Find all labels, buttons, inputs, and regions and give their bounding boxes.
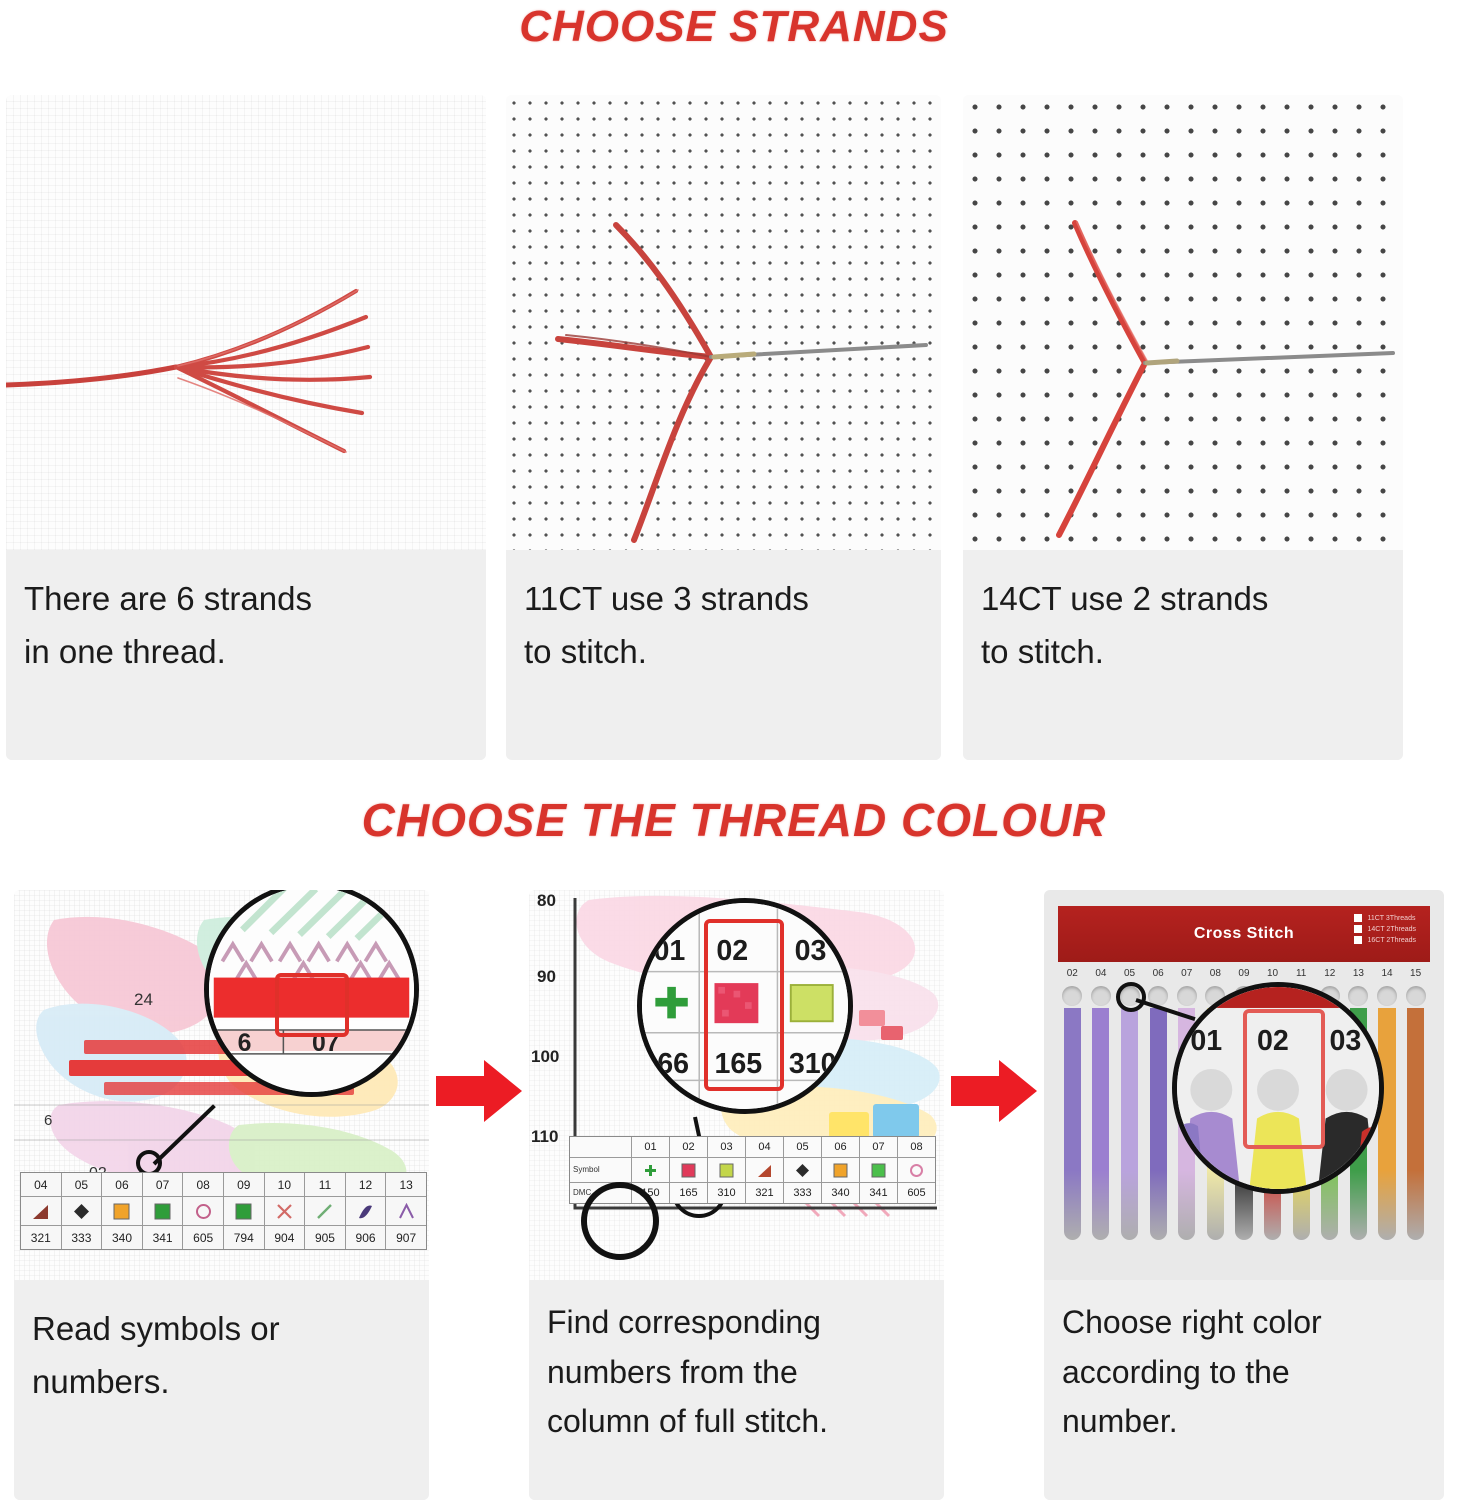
- legend-code-cell: 340: [102, 1226, 143, 1249]
- svg-text:100: 100: [531, 1047, 559, 1066]
- thread-hole: [1377, 986, 1397, 1006]
- thread-skein[interactable]: [1115, 1008, 1144, 1240]
- legend-symbol-slash: [316, 1203, 333, 1220]
- legend-number-cell: 04: [746, 1137, 784, 1157]
- thread-number-label: 14: [1373, 968, 1402, 986]
- caption-read-symbols: Read symbols or numbers.: [14, 1280, 429, 1500]
- pattern-chart-background: 24 6 02: [14, 890, 429, 1280]
- legend-symbol-cell: [746, 1158, 784, 1182]
- thread-number-label: 15: [1401, 968, 1430, 986]
- six-strand-thread-art: [6, 95, 486, 550]
- legend-symbol-cell: [102, 1197, 143, 1225]
- arrow-1-wrap: [429, 890, 529, 1500]
- legend-symbol-filled-square: [719, 1163, 734, 1178]
- legend-symbol-cell: [822, 1158, 860, 1182]
- thread-strand: [1378, 1008, 1395, 1240]
- caption-line: according to the: [1062, 1348, 1426, 1398]
- legend-code-cell: 310: [708, 1183, 746, 1203]
- thread-organizer-card: Cross Stitch 11CT 3Threads14CT 2Threads1…: [1044, 890, 1444, 1280]
- legend-symbol-filled-square: [113, 1203, 130, 1220]
- legend-symbol-filled-square: [681, 1163, 696, 1178]
- legend-symbol-cell: [386, 1197, 426, 1225]
- legend-number-cell: 03: [708, 1137, 746, 1157]
- legend-code-cell: 333: [784, 1183, 822, 1203]
- caption-11ct: 11CT use 3 strands to stitch.: [506, 550, 941, 760]
- svg-text:01: 01: [653, 935, 685, 967]
- card-read-symbols: 24 6 02: [14, 890, 429, 1500]
- legend-symbol-diamond: [73, 1203, 90, 1220]
- legend-number-row: 0102030405060708: [570, 1137, 935, 1157]
- legend-symbol-diamond: [795, 1163, 810, 1178]
- legend-number-cell: 04: [21, 1173, 62, 1196]
- legend-symbol-cell: [708, 1158, 746, 1182]
- svg-text:110: 110: [531, 1127, 558, 1146]
- legend-code-cell: 321: [746, 1183, 784, 1203]
- section-title-choose-thread-colour: CHOOSE THE THREAD COLOUR: [0, 793, 1468, 847]
- caption-line: 11CT use 3 strands: [524, 572, 923, 625]
- legend-number-cell: 06: [822, 1137, 860, 1157]
- card-14ct: 14CT use 2 strands to stitch.: [963, 95, 1403, 760]
- legend-number-cell: 08: [183, 1173, 224, 1196]
- legend-number-cell: 13: [386, 1173, 426, 1196]
- thread-number-label: 02: [1058, 968, 1087, 986]
- legend-code-cell: 906: [346, 1226, 387, 1249]
- thread-number-label: 12: [1315, 968, 1344, 986]
- thread-card-checkbox[interactable]: 16CT 2Threads: [1354, 936, 1416, 944]
- thread-skein[interactable]: [1058, 1008, 1087, 1240]
- checkbox-label: 14CT 2Threads: [1367, 926, 1416, 933]
- caption-choose-color: Choose right color according to the numb…: [1044, 1280, 1444, 1500]
- magnifier-circle-threads: 01 02 03: [1172, 982, 1384, 1194]
- caption-line: numbers.: [32, 1355, 411, 1408]
- highlight-box-02-chart: [704, 919, 784, 1091]
- arrow-right-icon: [436, 1060, 522, 1122]
- legend-symbol-cell: [784, 1158, 822, 1182]
- legend-code-cell: 605: [183, 1226, 224, 1249]
- highlight-box-02-thread: [1243, 1009, 1325, 1149]
- thread-strand: [1407, 1008, 1424, 1240]
- legend-number-cell: 12: [346, 1173, 387, 1196]
- legend-symbol-row: Symbol: [570, 1157, 935, 1183]
- photo-pattern-chart: 24 6 02: [14, 890, 429, 1280]
- caption-14ct: 14CT use 2 strands to stitch.: [963, 550, 1403, 760]
- legend-code-cell: 904: [265, 1226, 306, 1249]
- legend-symbol-cell: [670, 1158, 708, 1182]
- legend-code-cell: 905: [305, 1226, 346, 1249]
- legend-code-row: 321333340341605794904905906907: [21, 1226, 426, 1249]
- caption-line: number.: [1062, 1397, 1426, 1447]
- legend-symbol-cell: [305, 1197, 346, 1225]
- infographic-page: CHOOSE STRANDS: [0, 0, 1468, 1500]
- legend-number-cell: 01: [632, 1137, 670, 1157]
- legend-number-row: 04050607080910111213: [21, 1173, 426, 1196]
- caption-line: There are 6 strands: [24, 572, 468, 625]
- legend-symbol-filled-square: [235, 1203, 252, 1220]
- legend-symbol-cell: [143, 1197, 184, 1225]
- thread-number-label: 06: [1144, 968, 1173, 986]
- checkbox-icon[interactable]: [1354, 925, 1362, 933]
- legend-code-cell: 341: [143, 1226, 184, 1249]
- photo-thread-card: Cross Stitch 11CT 3Threads14CT 2Threads1…: [1044, 890, 1444, 1280]
- legend-symbol-triangle: [757, 1163, 772, 1178]
- caption-line: numbers from the: [547, 1348, 926, 1398]
- legend-symbol-cell: [898, 1158, 935, 1182]
- legend-code-cell: 907: [386, 1226, 426, 1249]
- legend-code-cell: 340: [822, 1183, 860, 1203]
- legend-symbol-filled-square: [871, 1163, 886, 1178]
- thread-strand: [1150, 1008, 1167, 1240]
- legend-number-cell: 07: [143, 1173, 184, 1196]
- checkbox-label: 11CT 3Threads: [1367, 915, 1415, 922]
- caption-line: 14CT use 2 strands: [981, 572, 1385, 625]
- svg-text:66: 66: [657, 1048, 689, 1080]
- legend-symbol-caret: [398, 1203, 415, 1220]
- strands-card-row: There are 6 strands in one thread.: [0, 95, 1468, 760]
- legend-number-cell: 08: [898, 1137, 935, 1157]
- thread-hole: [1348, 986, 1368, 1006]
- thread-number-label: 07: [1172, 968, 1201, 986]
- legend-symbol-cell: [860, 1158, 898, 1182]
- thread-strand: [1121, 1008, 1138, 1240]
- caption-find-numbers: Find corresponding numbers from the colu…: [529, 1280, 944, 1500]
- legend-symbol-cell: [632, 1158, 670, 1182]
- legend-number-cell: 02: [670, 1137, 708, 1157]
- thread-number-label: 09: [1230, 968, 1259, 986]
- three-strand-needle-art: [506, 95, 941, 550]
- magnifier-circle-symbols: 6 07: [204, 890, 419, 1097]
- thread-colour-card-row: 24 6 02: [0, 890, 1468, 1500]
- thread-hole: [1062, 986, 1082, 1006]
- legend-symbol-filled-square: [154, 1203, 171, 1220]
- highlight-box-02: [275, 973, 349, 1037]
- legend-symbol-filled-square: [833, 1163, 848, 1178]
- svg-text:24: 24: [134, 990, 153, 1009]
- legend-row-label-symbol: Symbol: [570, 1158, 632, 1182]
- svg-text:03: 03: [795, 935, 827, 967]
- checkbox-icon[interactable]: [1354, 936, 1362, 944]
- caption-line: to stitch.: [524, 625, 923, 678]
- legend-symbol-leaf: [357, 1203, 374, 1220]
- legend-number-cell: 06: [102, 1173, 143, 1196]
- thread-card-checkbox-list: 11CT 3Threads14CT 2Threads16CT 2Threads: [1354, 914, 1416, 944]
- card-six-strands: There are 6 strands in one thread.: [6, 95, 486, 760]
- thread-strand: [1092, 1008, 1109, 1240]
- svg-text:6: 6: [44, 1112, 52, 1129]
- card-choose-color: Cross Stitch 11CT 3Threads14CT 2Threads1…: [1044, 890, 1444, 1500]
- legend-symbol-cell: [346, 1197, 387, 1225]
- thread-skein[interactable]: [1401, 1008, 1430, 1240]
- magnifier-circle-numbers: 01 02 03 66 165 310: [637, 898, 853, 1114]
- caption-line: column of full stitch.: [547, 1397, 926, 1447]
- thread-card-number-row: 02040506070809101112131415: [1058, 968, 1430, 986]
- arrow-right-icon: [951, 1060, 1037, 1122]
- legend-symbol-circle-outline: [195, 1203, 212, 1220]
- legend-row-label: [570, 1137, 632, 1157]
- legend-symbol-cell: [62, 1197, 103, 1225]
- legend-code-cell: 794: [224, 1226, 265, 1249]
- thread-skein[interactable]: [1144, 1008, 1173, 1240]
- legend-number-cell: 11: [305, 1173, 346, 1196]
- svg-text:03: 03: [1329, 1025, 1361, 1057]
- legend-number-cell: 10: [265, 1173, 306, 1196]
- thread-hole: [1406, 986, 1426, 1006]
- card-11ct: 11CT use 3 strands to stitch.: [506, 95, 941, 760]
- thread-hole: [1177, 986, 1197, 1006]
- magnifier-pointer-dot: [1116, 982, 1146, 1012]
- caption-line: to stitch.: [981, 625, 1385, 678]
- thread-card-title: Cross Stitch: [1194, 925, 1294, 943]
- legend-strip-symbols: 04050607080910111213 3213333403416057949…: [20, 1172, 427, 1250]
- section-title-choose-strands: CHOOSE STRANDS: [0, 2, 1468, 52]
- svg-text:01: 01: [1190, 1025, 1222, 1057]
- thread-number-label: 04: [1087, 968, 1116, 986]
- thread-number-label: 08: [1201, 968, 1230, 986]
- thread-card-header: Cross Stitch 11CT 3Threads14CT 2Threads1…: [1058, 906, 1430, 962]
- card-find-numbers: 80 90 100 110: [529, 890, 944, 1500]
- svg-text:6: 6: [238, 1030, 252, 1057]
- caption-line: Choose right color: [1062, 1298, 1426, 1348]
- legend-number-cell: 05: [784, 1137, 822, 1157]
- thread-card-checkbox[interactable]: 11CT 3Threads: [1354, 914, 1416, 922]
- legend-number-cell: 07: [860, 1137, 898, 1157]
- full-stitch-chart-background: 80 90 100 110: [529, 890, 944, 1280]
- legend-code-cell: 341: [860, 1183, 898, 1203]
- legend-code-cell: 321: [21, 1226, 62, 1249]
- legend-symbol-plus: [643, 1163, 658, 1178]
- thread-card-checkbox[interactable]: 14CT 2Threads: [1354, 925, 1416, 933]
- legend-symbol-cell: [183, 1197, 224, 1225]
- legend-symbol-cell: [21, 1197, 62, 1225]
- caption-line: Find corresponding: [547, 1298, 926, 1348]
- legend-code-cell: 165: [670, 1183, 708, 1203]
- caption-six-strands: There are 6 strands in one thread.: [6, 550, 486, 760]
- legend-symbol-cell: [224, 1197, 265, 1225]
- thread-number-label: 13: [1344, 968, 1373, 986]
- legend-code-cell: 333: [62, 1226, 103, 1249]
- legend-symbol-triangle: [32, 1203, 49, 1220]
- svg-text:80: 80: [537, 891, 556, 910]
- thread-hole: [1091, 986, 1111, 1006]
- caption-line: in one thread.: [24, 625, 468, 678]
- photo-14ct-aida: [963, 95, 1403, 550]
- caption-line: Read symbols or: [32, 1302, 411, 1355]
- legend-code-cell: 605: [898, 1183, 935, 1203]
- svg-text:90: 90: [537, 967, 556, 986]
- legend-symbol-circle-outline: [909, 1163, 924, 1178]
- legend-symbol-row: [21, 1196, 426, 1226]
- checkbox-label: 16CT 2Threads: [1367, 937, 1416, 944]
- photo-six-strands: [6, 95, 486, 550]
- thread-skein[interactable]: [1087, 1008, 1116, 1240]
- legend-symbol-cell: [265, 1197, 306, 1225]
- checkbox-icon[interactable]: [1354, 914, 1362, 922]
- photo-11ct-aida: [506, 95, 941, 550]
- thread-strand: [1064, 1008, 1081, 1240]
- two-strand-needle-art: [963, 95, 1403, 550]
- legend-number-cell: 09: [224, 1173, 265, 1196]
- legend-number-cell: 05: [62, 1173, 103, 1196]
- legend-highlight-circle: [581, 1182, 659, 1260]
- legend-symbol-cross-x: [276, 1203, 293, 1220]
- arrow-2-wrap: [944, 890, 1044, 1500]
- photo-full-stitch-chart: 80 90 100 110: [529, 890, 944, 1280]
